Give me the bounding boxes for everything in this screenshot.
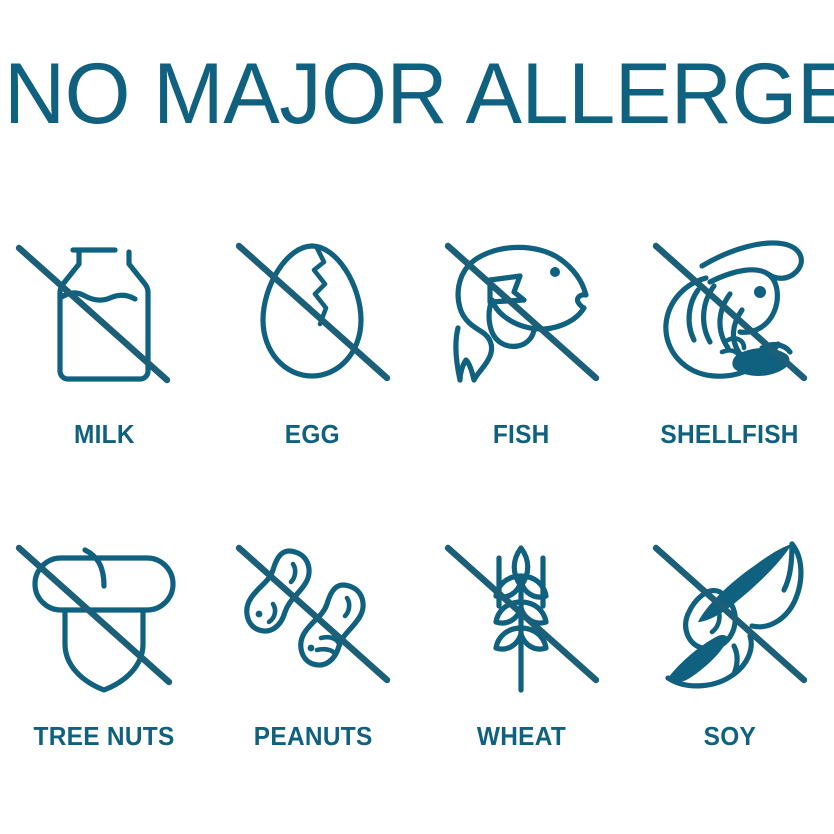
allergen-label: MILK	[74, 419, 135, 450]
wheat-stalk-icon	[434, 530, 609, 705]
allergen-label: TREE NUTS	[34, 721, 175, 752]
peanut-pods-icon	[225, 530, 400, 705]
allergen-grid: MILK EGG	[0, 228, 834, 780]
allergen-row: TREE NUTS	[0, 530, 834, 780]
cracked-egg-icon	[225, 228, 400, 403]
allergen-item-wheat[interactable]: WHEAT	[417, 530, 626, 752]
allergen-label: PEANUTS	[253, 721, 372, 752]
allergen-item-peanuts[interactable]: PEANUTS	[209, 530, 418, 752]
soy-bean-pod-icon	[642, 530, 817, 705]
allergen-label: SOY	[704, 721, 756, 752]
allergen-poster: NO MAJOR ALLERGENS	[0, 0, 834, 834]
allergen-item-fish[interactable]: FISH	[417, 228, 626, 450]
allergen-label: WHEAT	[477, 721, 566, 752]
acorn-icon	[17, 530, 192, 705]
allergen-item-tree-nuts[interactable]: TREE NUTS	[0, 530, 209, 752]
page-title-container: NO MAJOR ALLERGENS	[0, 44, 834, 144]
allergen-label: EGG	[285, 419, 340, 450]
allergen-label: SHELLFISH	[661, 419, 799, 450]
allergen-label: FISH	[493, 419, 550, 450]
allergen-item-egg[interactable]: EGG	[209, 228, 418, 450]
milk-bottle-icon	[17, 228, 192, 403]
allergen-item-shellfish[interactable]: SHELLFISH	[626, 228, 834, 450]
allergen-row: MILK EGG	[0, 228, 834, 478]
allergen-item-soy[interactable]: SOY	[626, 530, 834, 752]
allergen-item-milk[interactable]: MILK	[0, 228, 209, 450]
fish-icon	[434, 228, 609, 403]
page-title: NO MAJOR ALLERGENS	[4, 51, 834, 137]
shrimp-icon	[642, 228, 817, 403]
